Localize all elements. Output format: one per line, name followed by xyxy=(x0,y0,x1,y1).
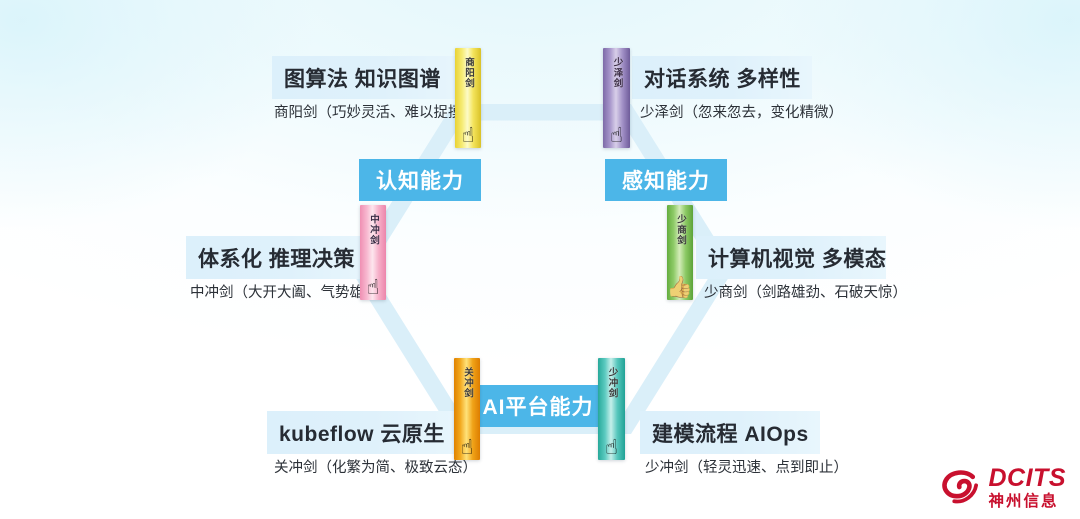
swirl-logo-icon xyxy=(940,466,982,508)
pointing-hand-icon: ☝ xyxy=(605,437,618,458)
sword-label-text: 关冲剑 xyxy=(462,367,472,399)
node-title-text: kubeflow 云原生 xyxy=(279,418,445,448)
brand-logo: DCITS 神州信息 xyxy=(940,466,1067,510)
capability-chip-cognitive[interactable]: 认知能力 xyxy=(359,159,481,201)
sword-label-text: 少泽剑 xyxy=(612,57,622,89)
sword-label-text: 商阳剑 xyxy=(463,57,473,89)
node-subtitle-text: 商阳剑（巧妙灵活、难以捉摸） xyxy=(274,105,477,121)
node-subtitle-cognition-graph: 商阳剑（巧妙灵活、难以捉摸） xyxy=(274,101,477,122)
pointing-hand-icon: ☝ xyxy=(610,125,623,146)
sword-bar-shaochong: 少冲剑 ☝ xyxy=(598,358,625,460)
pointing-hand-icon: ☝ xyxy=(367,277,380,298)
pointing-hand-icon: ☝ xyxy=(462,125,475,146)
node-subtitle-computer-vision: 少商剑（剑路雄劲、石破天惊） xyxy=(704,281,907,302)
pointing-hand-icon: ☝ xyxy=(461,437,474,458)
brand-name-cn: 神州信息 xyxy=(989,494,1067,510)
capability-label: 感知能力 xyxy=(622,165,710,195)
node-title-modeling-aiops: 建模流程 AIOps xyxy=(640,411,820,454)
node-subtitle-kubeflow-cloudnative: 关冲剑（化繁为简、极致云态） xyxy=(274,456,477,477)
node-title-dialogue-system: 对话系统 多样性 xyxy=(632,56,812,99)
capability-label: AI平台能力 xyxy=(483,391,594,421)
node-title-systematic-reasoning: 体系化 推理决策 xyxy=(186,236,374,279)
capability-chip-ai-platform[interactable]: AI平台能力 xyxy=(470,385,606,427)
node-title-text: 图算法 知识图谱 xyxy=(284,63,441,93)
thumbs-up-hand-icon: 👍 xyxy=(667,277,693,298)
sword-bar-shaoshang: 少商剑 👍 xyxy=(667,205,693,300)
sword-bar-shaoze: 少泽剑 ☝ xyxy=(603,48,630,148)
node-subtitle-modeling-aiops: 少冲剑（轻灵迅速、点到即止） xyxy=(645,456,848,477)
slide-canvas: 图算法 知识图谱 商阳剑（巧妙灵活、难以捉摸） 商阳剑 ☝ 对话系统 多样性 少… xyxy=(0,0,1080,519)
sword-bar-shangyang: 商阳剑 ☝ xyxy=(455,48,481,148)
capability-label: 认知能力 xyxy=(376,165,464,195)
node-subtitle-text: 少冲剑（轻灵迅速、点到即止） xyxy=(645,460,848,476)
node-title-text: 体系化 推理决策 xyxy=(198,243,355,273)
node-subtitle-text: 少泽剑（忽来忽去，变化精微） xyxy=(640,105,843,121)
node-title-computer-vision: 计算机视觉 多模态 xyxy=(696,236,886,279)
sword-bar-guanchong: 关冲剑 ☝ xyxy=(454,358,480,460)
sword-label-text: 少冲剑 xyxy=(607,367,617,399)
node-subtitle-dialogue-system: 少泽剑（忽来忽去，变化精微） xyxy=(640,101,843,122)
node-subtitle-text: 关冲剑（化繁为简、极致云态） xyxy=(274,460,477,476)
node-title-text: 对话系统 多样性 xyxy=(644,63,801,93)
brand-words: DCITS 神州信息 xyxy=(989,466,1067,510)
node-subtitle-text: 少商剑（剑路雄劲、石破天惊） xyxy=(704,285,907,301)
sword-label-text: 少商剑 xyxy=(675,214,685,246)
node-title-text: 计算机视觉 多模态 xyxy=(708,243,886,273)
sword-bar-zhongchong: 中冲剑 ☝ xyxy=(360,205,386,300)
capability-chip-perceptual[interactable]: 感知能力 xyxy=(605,159,727,201)
node-title-cognition-graph: 图算法 知识图谱 xyxy=(272,56,472,99)
node-title-kubeflow-cloudnative: kubeflow 云原生 xyxy=(267,411,462,454)
sword-label-text: 中冲剑 xyxy=(368,214,378,246)
node-title-text: 建模流程 AIOps xyxy=(652,418,809,448)
brand-name-en: DCITS xyxy=(989,466,1067,491)
